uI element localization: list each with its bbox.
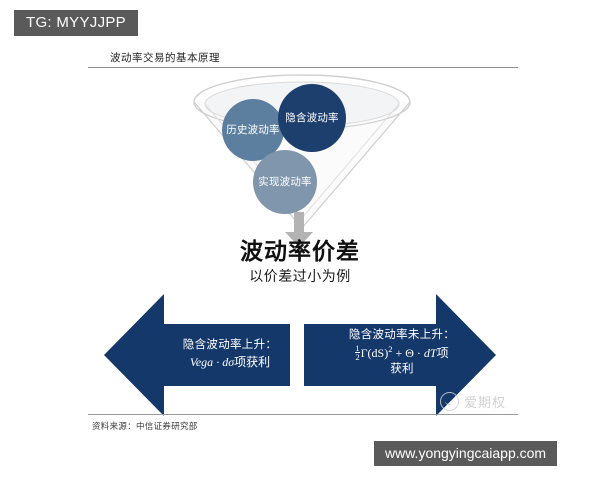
page-title: 波动率交易的基本原理 xyxy=(110,50,220,65)
watermark-logo-icon xyxy=(440,392,459,411)
watermark-label: 爱期权 xyxy=(464,392,506,411)
right-formula-numerator: 1 xyxy=(355,344,359,353)
spread-subheading: 以价差过小为例 xyxy=(0,266,600,286)
outcome-arrows: 隐含波动率上升： Vega · dσ项获利 隐含波动率未上升： 12Γ(dS)2… xyxy=(104,294,496,416)
right-formula-tail: 项 xyxy=(437,346,449,360)
right-formula-gamma-term: Γ(dS) xyxy=(361,346,389,360)
title-divider xyxy=(88,67,518,68)
circle-implied-volatility-label: 隐含波动率 xyxy=(285,112,339,124)
right-arrow-text: 隐含波动率未上升： 12Γ(dS)2 + Θ · dT项 获利 xyxy=(309,328,495,378)
left-arrow-formula: Vega · dσ项获利 xyxy=(140,354,320,370)
volatility-funnel: 历史波动率 隐含波动率 实现波动率 xyxy=(186,72,418,232)
left-formula-dsigma: dσ xyxy=(222,355,234,369)
right-arrow-heading: 隐含波动率未上升： xyxy=(309,328,495,344)
left-formula-tail: 项获利 xyxy=(234,355,270,369)
circle-realized-volatility: 实现波动率 xyxy=(253,150,317,214)
right-formula-dot: · xyxy=(414,346,424,360)
left-formula-dot: · xyxy=(213,355,222,369)
right-formula-denominator: 2 xyxy=(355,352,359,362)
right-formula-dT: dT xyxy=(424,346,437,360)
left-arrow-heading: 隐含波动率上升： xyxy=(140,338,320,354)
right-arrow-formula-line2: 获利 xyxy=(309,362,495,378)
right-formula-fraction: 12 xyxy=(355,344,359,363)
website-url-badge: www.yongyingcaiapp.com xyxy=(374,441,557,466)
circle-historical-volatility-label: 历史波动率 xyxy=(226,124,280,136)
right-formula-theta: Θ xyxy=(405,346,414,360)
left-arrow-text: 隐含波动率上升： Vega · dσ项获利 xyxy=(140,338,320,370)
right-formula-plus: + xyxy=(392,346,405,360)
left-formula-vega: Vega xyxy=(190,355,213,369)
watermark: 爱期权 xyxy=(440,392,506,411)
right-arrow-formula: 12Γ(dS)2 + Θ · dT项 xyxy=(309,344,495,363)
spread-heading: 波动率价差 xyxy=(0,232,600,266)
circle-implied-volatility: 隐含波动率 xyxy=(278,84,346,152)
circle-realized-volatility-label: 实现波动率 xyxy=(258,176,312,188)
footer-divider xyxy=(88,414,518,415)
telegram-handle-badge: TG: MYYJJPP xyxy=(14,10,138,36)
slide-canvas: 波动率交易的基本原理 历史波动率 隐含波动率 实现波动率 波动率价差 以价差过小… xyxy=(0,36,600,436)
source-note: 资料来源：中信证券研究部 xyxy=(92,420,198,432)
